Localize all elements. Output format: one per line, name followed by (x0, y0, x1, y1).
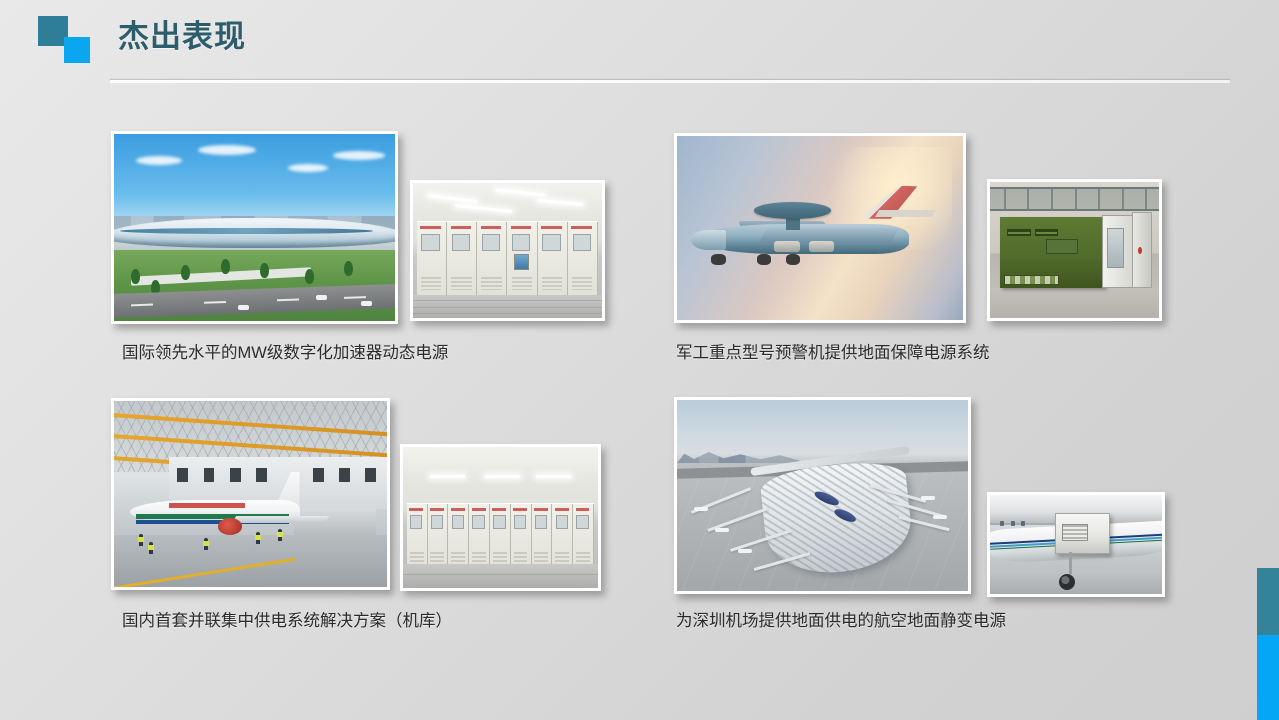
parallel-cabinets-illustration (403, 447, 598, 588)
caption-item-2: 军工重点型号预警机提供地面保障电源系统 (676, 342, 990, 364)
page-title: 杰出表现 (118, 17, 246, 57)
title-divider (110, 80, 1230, 83)
photo-parallel-power-cabinets[interactable] (400, 444, 601, 591)
caption-item-4: 为深圳机场提供地面供电的航空地面静变电源 (676, 610, 1006, 632)
logo-mark (38, 16, 110, 64)
hangar-illustration (114, 401, 387, 587)
photo-power-cabinet-room[interactable] (410, 180, 605, 321)
photo-stadium-exterior[interactable] (111, 131, 398, 324)
shelter-illustration (990, 182, 1159, 318)
cabinet-room-illustration (413, 183, 602, 318)
ground-power-illustration (990, 495, 1162, 594)
caption-item-1: 国际领先水平的MW级数字化加速器动态电源 (122, 342, 448, 364)
slide-header: 杰出表现 (0, 0, 1279, 92)
photo-awacs-aircraft[interactable] (674, 133, 966, 323)
slide-content: 国际领先水平的MW级数字化加速器动态电源 (0, 92, 1279, 720)
photo-aircraft-hangar[interactable] (111, 398, 390, 590)
awacs-illustration (677, 136, 963, 320)
photo-aircraft-ground-power-unit[interactable] (987, 492, 1165, 597)
terminal-illustration (677, 400, 968, 591)
caption-item-3: 国内首套并联集中供电系统解决方案（机库） (122, 610, 452, 632)
photo-shenzhen-airport-terminal[interactable] (674, 397, 971, 594)
photo-green-military-shelter[interactable] (987, 179, 1162, 321)
stadium-illustration (114, 134, 395, 321)
logo-square-bright (64, 37, 90, 63)
